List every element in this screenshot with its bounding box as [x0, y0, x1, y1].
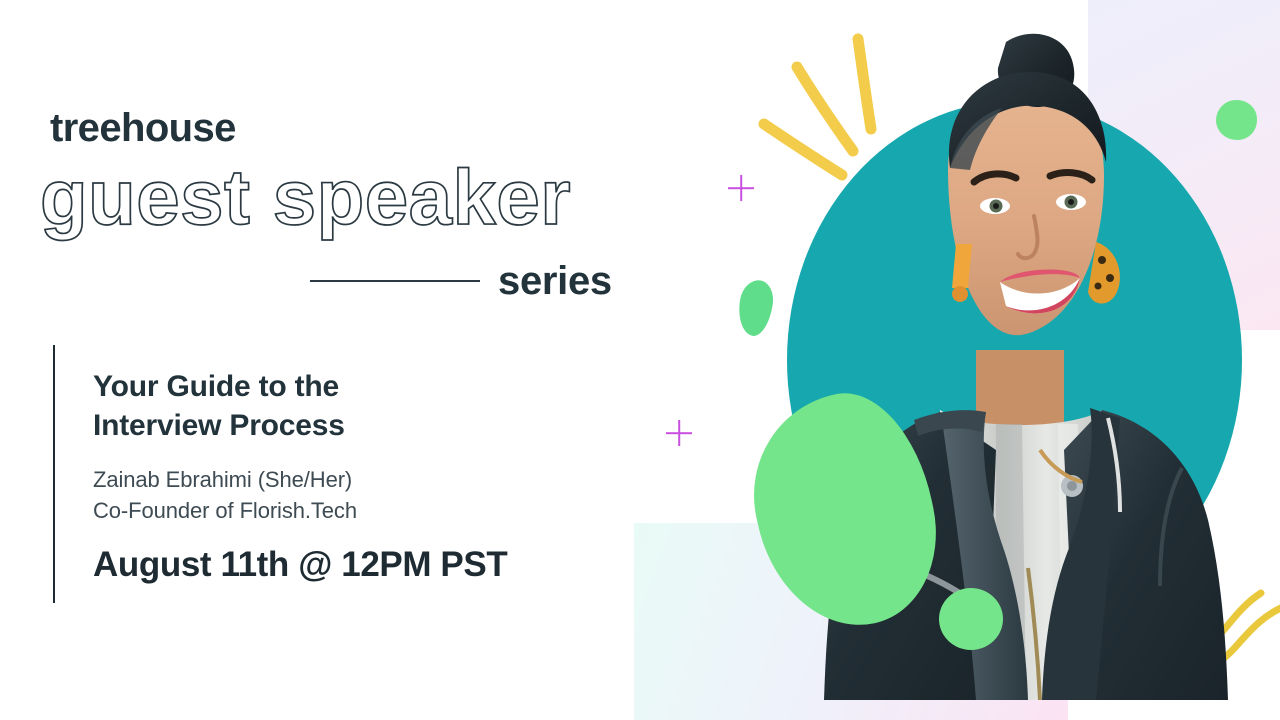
magenta-plus-upper-icon: [728, 175, 754, 201]
horizontal-rule: [310, 280, 480, 282]
green-dot-bottom: [939, 588, 1003, 650]
speaker-name: Zainab Ebrahimi (She/Her): [93, 445, 633, 495]
speaker-role: Co-Founder of Florish.Tech: [93, 495, 633, 526]
promo-slide: treehouse guest speaker series Your Guid…: [0, 0, 1280, 720]
talk-title-line-1: Your Guide to the: [93, 345, 633, 406]
event-datetime: August 11th @ 12PM PST: [93, 526, 633, 585]
series-label: series: [498, 261, 612, 301]
brand-wordmark: treehouse: [50, 106, 236, 151]
green-blob-small: [735, 278, 776, 338]
magenta-plus-lower-icon: [666, 420, 692, 446]
series-rule-row: series: [310, 258, 630, 304]
copy-column: treehouse guest speaker series Your Guid…: [0, 0, 660, 720]
talk-title-line-2: Interview Process: [93, 406, 633, 445]
talk-details: Your Guide to the Interview Process Zain…: [53, 345, 633, 603]
headline-outlined: guest speaker: [40, 158, 571, 236]
